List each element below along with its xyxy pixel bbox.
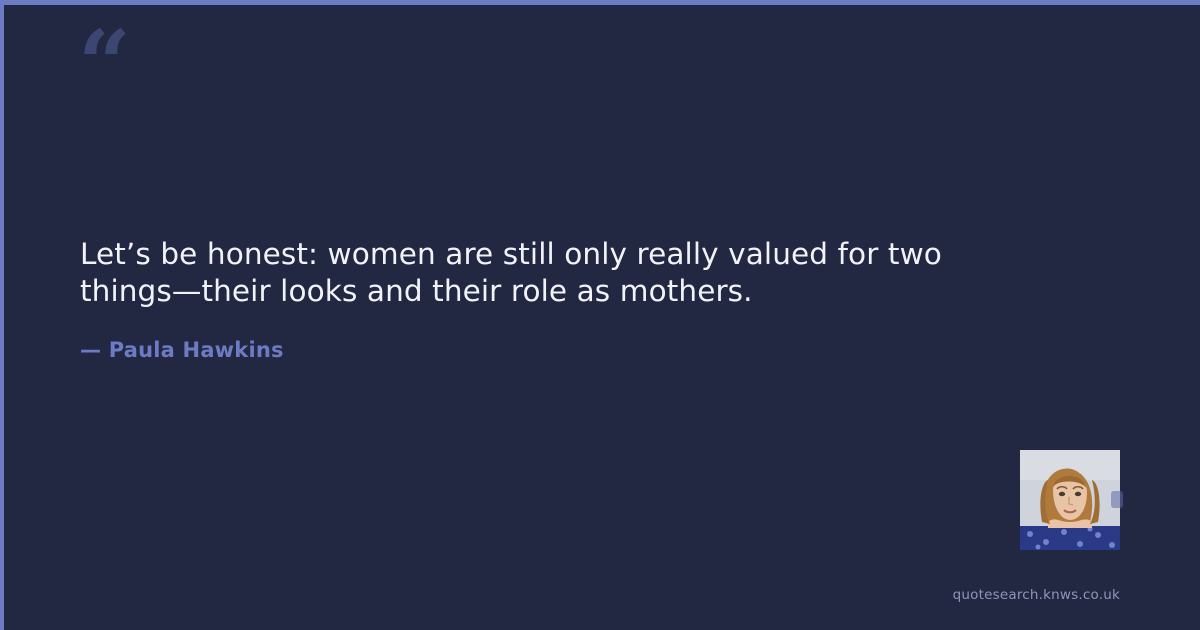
top-accent-rule: [0, 0, 1200, 5]
quotation-mark-icon: “: [78, 18, 129, 110]
source-attribution: quotesearch.knws.co.uk: [953, 587, 1120, 603]
left-accent-rule: [0, 0, 4, 630]
portrait-edge-accent: [1111, 491, 1123, 508]
author-portrait: [1020, 450, 1120, 550]
quote-card: “ Let’s be honest: women are still only …: [0, 0, 1200, 630]
quote-attribution: — Paula Hawkins: [80, 338, 284, 362]
quote-body: Let’s be honest: women are still only re…: [80, 236, 980, 310]
quote-text: Let’s be honest: women are still only re…: [80, 236, 980, 310]
